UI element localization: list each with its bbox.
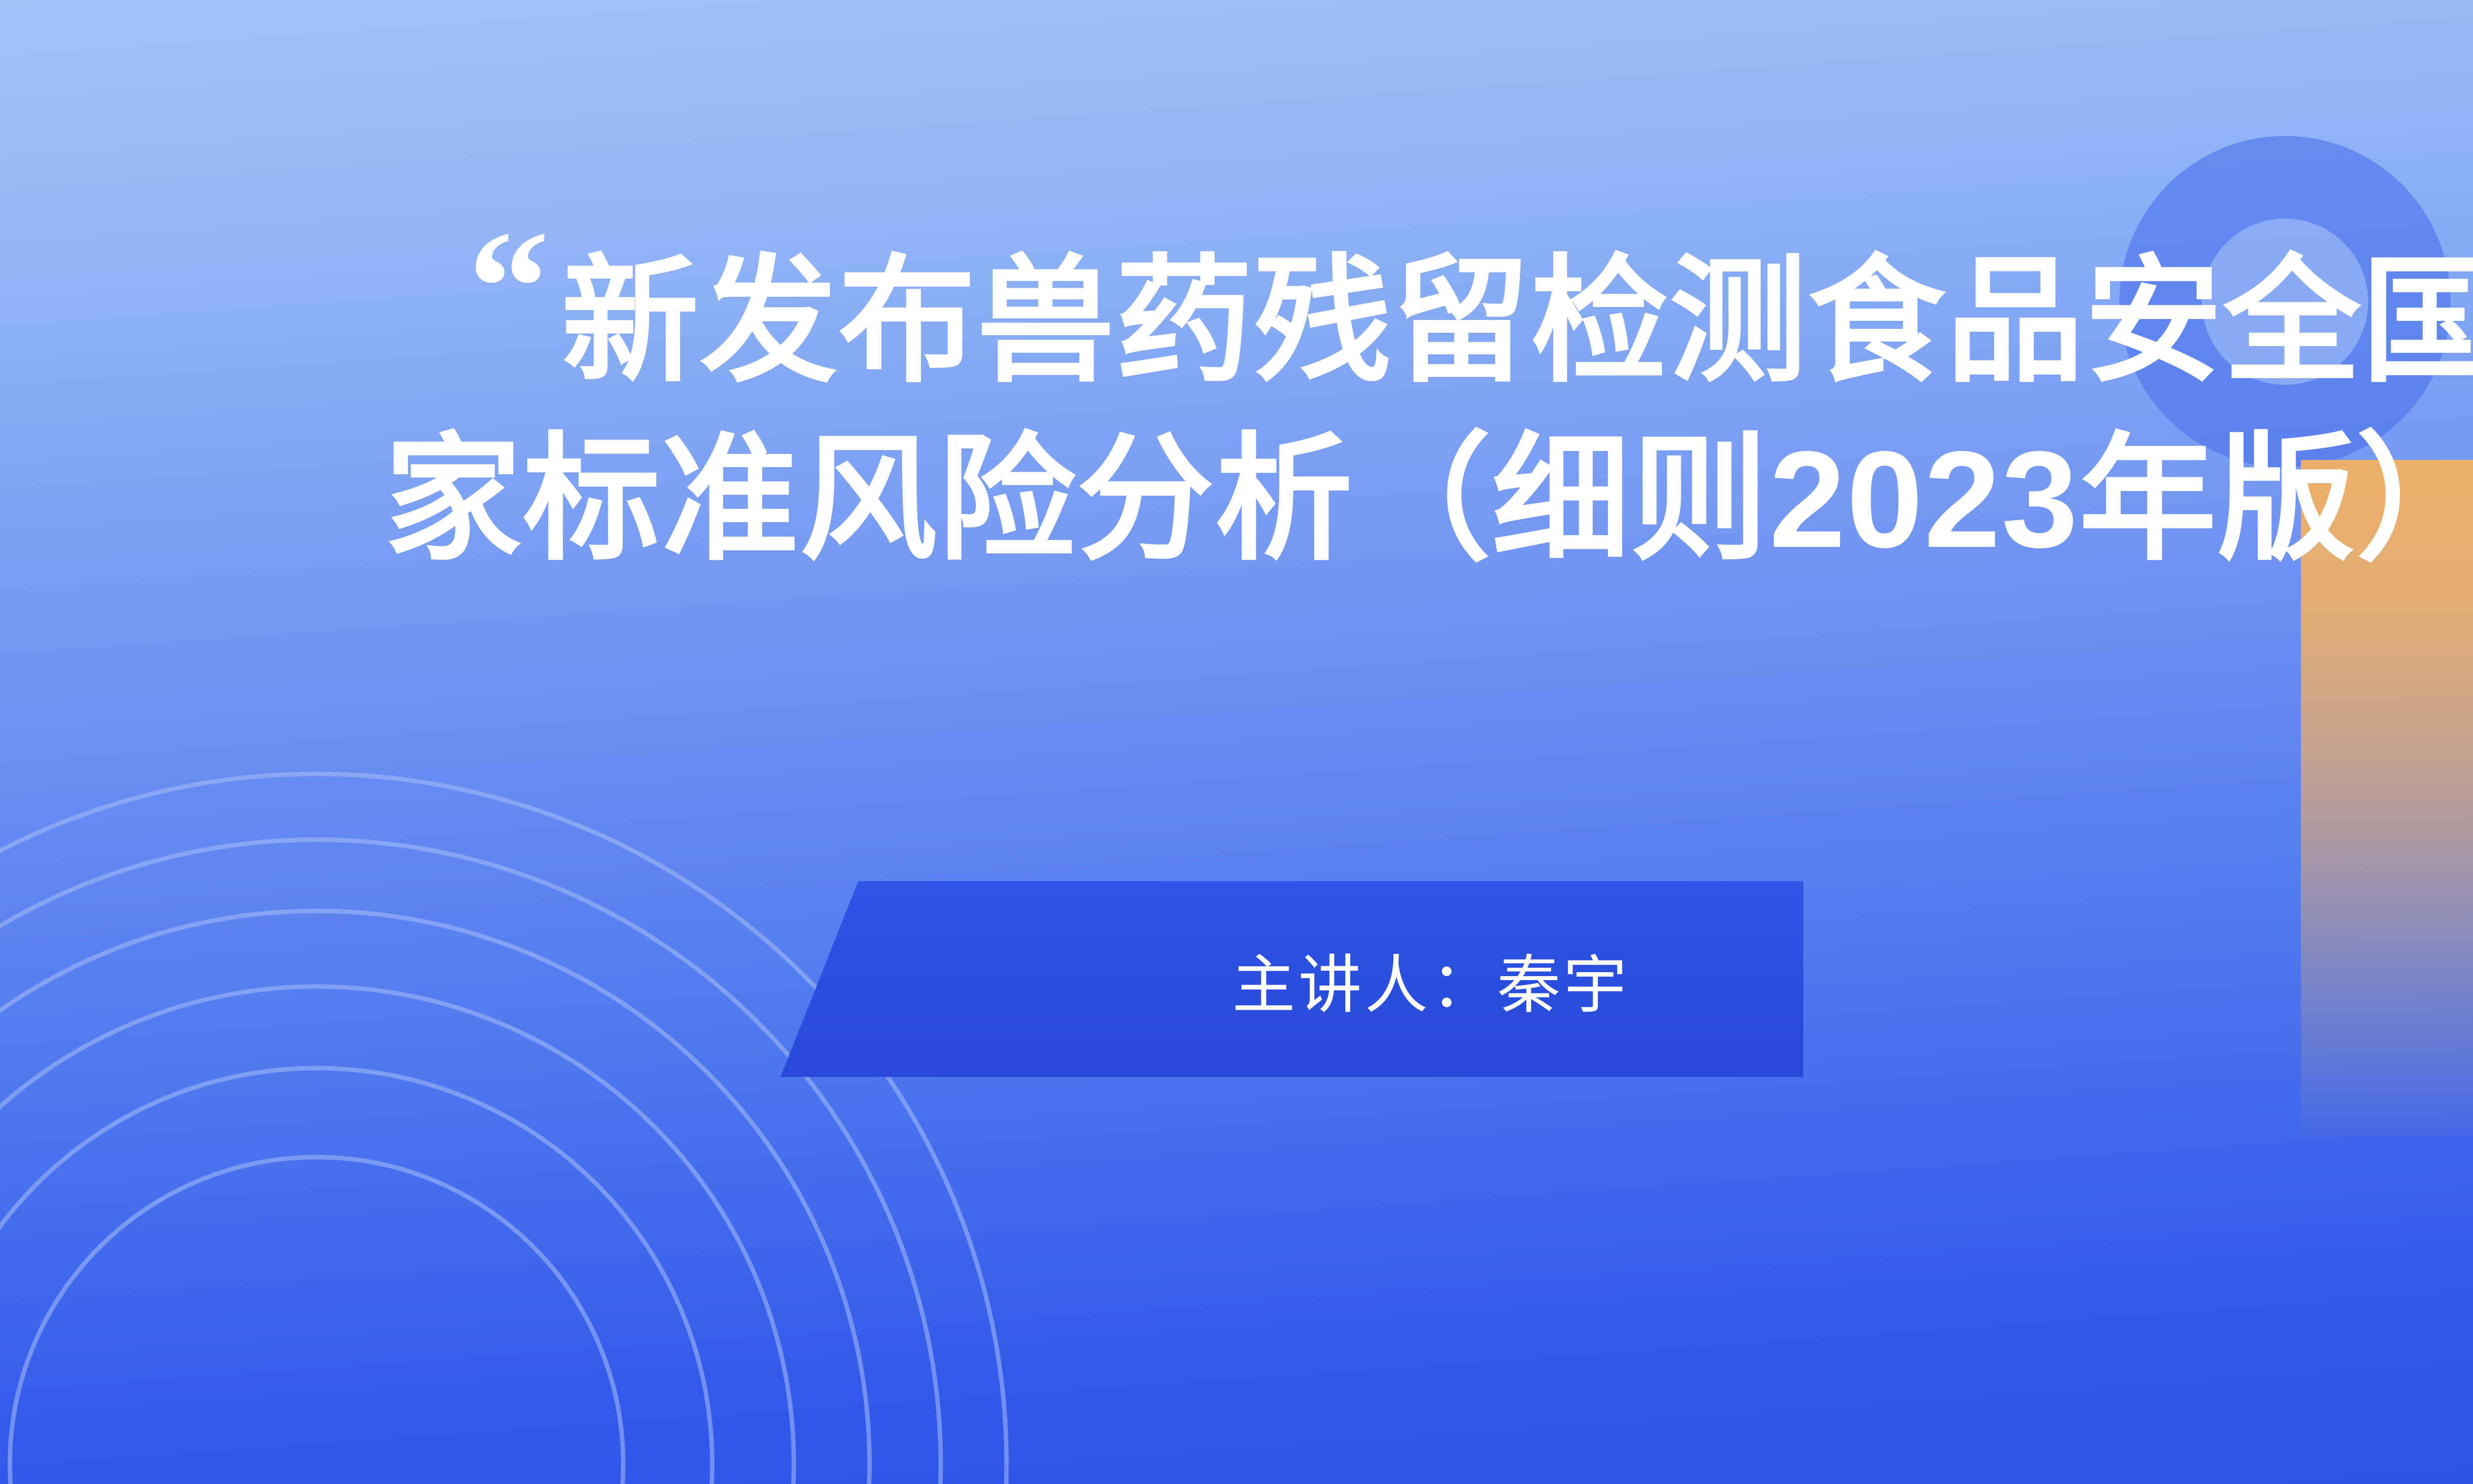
speaker-label: 主讲人：秦宇 [780, 881, 2081, 1077]
concentric-rings-icon [0, 771, 1009, 1484]
title-slide: “新发布兽药残留检测食品安全国 家标准风险分析（细则2023年版）” 主讲人：秦… [0, 0, 2473, 1484]
title-line-2-text: 家标准风险分析（细则2023年版） [384, 422, 2473, 576]
title-line-2: 家标准风险分析（细则2023年版）” [0, 410, 2473, 588]
page-title: “新发布兽药残留检测食品安全国 家标准风险分析（细则2023年版）” [0, 232, 2473, 588]
title-line-1: “新发布兽药残留检测食品安全国 [0, 232, 2473, 410]
title-line-1-text: 新发布兽药残留检测食品安全国 [561, 244, 2473, 398]
